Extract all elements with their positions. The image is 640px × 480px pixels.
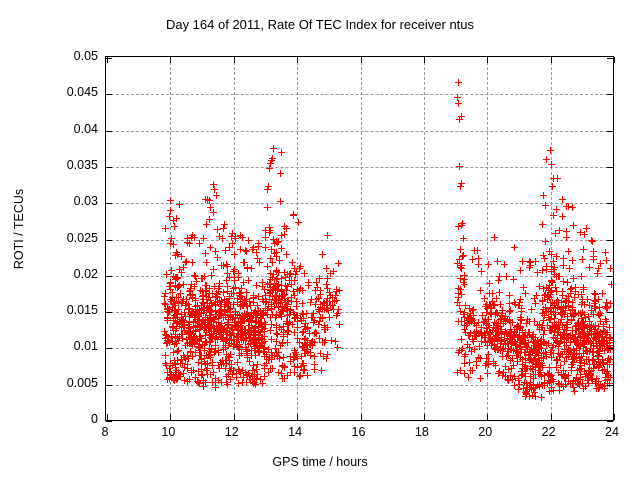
data-point-marker — [580, 284, 587, 291]
data-point-marker — [490, 360, 497, 367]
data-point-marker — [245, 237, 252, 244]
data-point-marker — [280, 331, 287, 338]
data-point-marker — [573, 351, 580, 358]
data-point-marker — [336, 321, 343, 328]
data-point-marker — [572, 288, 579, 295]
data-point-marker — [557, 319, 564, 326]
data-point-marker — [253, 282, 260, 289]
y-axis-tick-labels: 00.0050.010.0150.020.0250.030.0350.040.0… — [28, 56, 98, 419]
data-point-marker — [471, 332, 478, 339]
data-point-marker — [235, 274, 242, 281]
y-tick-mark — [106, 421, 112, 422]
data-point-marker — [202, 282, 209, 289]
data-point-marker — [566, 265, 573, 272]
data-point-marker — [202, 250, 209, 257]
data-point-marker — [522, 290, 529, 297]
y-tick-label: 0.02 — [32, 267, 98, 281]
scatter-series-roti — [106, 57, 613, 420]
data-point-marker — [496, 289, 503, 296]
data-point-marker — [457, 246, 464, 253]
x-tick-label: 22 — [542, 425, 556, 439]
data-point-marker — [215, 288, 222, 295]
data-point-marker — [511, 244, 518, 251]
y-tick-label: 0.04 — [32, 122, 98, 136]
data-point-marker — [180, 281, 187, 288]
data-point-marker — [604, 343, 611, 350]
data-point-marker — [570, 222, 577, 229]
data-point-marker — [324, 232, 331, 239]
y-tick-label: 0.005 — [32, 376, 98, 390]
data-point-marker — [214, 254, 221, 261]
data-point-marker — [270, 236, 277, 243]
data-point-marker — [271, 296, 278, 303]
data-point-marker — [264, 186, 271, 193]
data-point-marker — [460, 235, 467, 242]
data-point-marker — [237, 333, 244, 340]
data-point-marker — [258, 335, 265, 342]
data-point-marker — [327, 270, 334, 277]
data-point-marker — [580, 246, 587, 253]
data-point-marker — [184, 352, 191, 359]
data-point-marker — [173, 376, 180, 383]
data-point-marker — [181, 322, 188, 329]
data-point-marker — [203, 259, 210, 266]
data-point-marker — [208, 272, 215, 279]
data-point-marker — [213, 192, 220, 199]
data-point-marker — [578, 273, 585, 280]
x-tick-label: 14 — [288, 425, 302, 439]
data-point-marker — [324, 351, 331, 358]
data-point-marker — [304, 342, 311, 349]
data-point-marker — [222, 247, 229, 254]
data-point-marker — [265, 356, 272, 363]
data-point-marker — [516, 299, 523, 306]
data-point-marker — [231, 251, 238, 258]
data-point-marker — [332, 338, 339, 345]
data-point-marker — [569, 257, 576, 264]
data-point-marker — [491, 234, 498, 241]
data-point-marker — [182, 342, 189, 349]
data-point-marker — [251, 325, 258, 332]
y-tick-mark — [607, 421, 613, 422]
data-point-marker — [560, 255, 567, 262]
data-point-marker — [530, 371, 537, 378]
data-point-marker — [473, 358, 480, 365]
data-point-marker — [199, 371, 206, 378]
data-point-marker — [245, 277, 252, 284]
data-point-marker — [234, 299, 241, 306]
data-point-marker — [234, 324, 241, 331]
data-point-marker — [283, 251, 290, 258]
x-tick-label: 20 — [478, 425, 492, 439]
data-point-marker — [492, 333, 499, 340]
data-point-marker — [460, 279, 467, 286]
data-point-marker — [334, 344, 341, 351]
data-point-marker — [468, 348, 475, 355]
data-point-marker — [470, 306, 477, 313]
data-point-marker — [255, 345, 262, 352]
data-point-marker — [206, 216, 213, 223]
data-point-marker — [304, 372, 311, 379]
data-point-marker — [184, 239, 191, 246]
data-point-marker — [284, 339, 291, 346]
data-point-marker — [277, 170, 284, 177]
data-point-marker — [171, 357, 178, 364]
data-point-marker — [324, 324, 331, 331]
data-point-marker — [539, 221, 546, 228]
data-point-marker — [458, 222, 465, 229]
data-point-marker — [596, 333, 603, 340]
data-point-marker — [184, 378, 191, 385]
data-point-marker — [561, 326, 568, 333]
data-point-marker — [188, 369, 195, 376]
x-tick-label: 8 — [102, 425, 109, 439]
data-point-marker — [456, 256, 463, 263]
data-point-marker — [529, 392, 536, 399]
data-point-marker — [596, 312, 603, 319]
data-point-marker — [248, 317, 255, 324]
data-point-marker — [493, 309, 500, 316]
data-point-marker — [504, 340, 511, 347]
data-point-marker — [469, 256, 476, 263]
data-point-marker — [570, 275, 577, 282]
data-point-marker — [201, 341, 208, 348]
data-point-marker — [323, 281, 330, 288]
data-point-marker — [316, 275, 323, 282]
data-point-marker — [485, 351, 492, 358]
data-point-marker — [606, 361, 613, 368]
data-point-marker — [541, 327, 548, 334]
data-point-marker — [284, 372, 291, 379]
data-point-marker — [544, 380, 551, 387]
data-point-marker — [558, 335, 565, 342]
data-point-marker — [560, 305, 567, 312]
data-point-marker — [268, 321, 275, 328]
data-point-marker — [290, 211, 297, 218]
data-point-marker — [303, 310, 310, 317]
data-point-marker — [248, 265, 255, 272]
data-point-marker — [250, 310, 257, 317]
data-point-marker — [199, 275, 206, 282]
data-point-marker — [173, 249, 180, 256]
data-point-marker — [559, 292, 566, 299]
data-point-marker — [249, 246, 256, 253]
data-point-marker — [202, 323, 209, 330]
data-point-marker — [172, 333, 179, 340]
data-point-marker — [569, 204, 576, 211]
data-point-marker — [501, 261, 508, 268]
data-point-marker — [280, 354, 287, 361]
data-point-marker — [254, 371, 261, 378]
data-point-marker — [268, 157, 275, 164]
data-point-marker — [563, 234, 570, 241]
data-point-marker — [550, 258, 557, 265]
data-point-marker — [541, 372, 548, 379]
data-point-marker — [279, 362, 286, 369]
data-point-marker — [164, 334, 171, 341]
y-tick-label: 0.03 — [32, 194, 98, 208]
data-point-marker — [477, 287, 484, 294]
data-point-marker — [191, 234, 198, 241]
data-point-marker — [207, 204, 214, 211]
data-point-marker — [586, 264, 593, 271]
x-axis-title: GPS time / hours — [0, 455, 640, 469]
data-point-marker — [503, 273, 510, 280]
data-point-marker — [162, 225, 169, 232]
data-point-marker — [461, 326, 468, 333]
plot-area — [105, 56, 614, 421]
data-point-marker — [521, 341, 528, 348]
data-point-marker — [250, 292, 257, 299]
y-tick-label: 0.01 — [32, 339, 98, 353]
data-point-marker — [581, 231, 588, 238]
data-point-marker — [518, 305, 525, 312]
chart-figure: Day 164 of 2011, Rate Of TEC Index for r… — [0, 0, 640, 480]
data-point-marker — [317, 350, 324, 357]
data-point-marker — [239, 379, 246, 386]
data-point-marker — [540, 192, 547, 199]
data-point-marker — [319, 251, 326, 258]
data-point-marker — [201, 305, 208, 312]
data-point-marker — [268, 336, 275, 343]
data-point-marker — [173, 215, 180, 222]
x-axis-tick-labels: 81012141618202224 — [105, 425, 612, 443]
data-point-marker — [489, 290, 496, 297]
data-point-marker — [574, 339, 581, 346]
data-point-marker — [297, 372, 304, 379]
data-point-marker — [510, 276, 517, 283]
data-point-marker — [540, 350, 547, 357]
data-point-marker — [548, 347, 555, 354]
data-point-marker — [329, 294, 336, 301]
data-point-marker — [547, 147, 554, 154]
data-point-marker — [603, 318, 610, 325]
data-point-marker — [169, 289, 176, 296]
data-point-marker — [282, 299, 289, 306]
data-point-marker — [316, 318, 323, 325]
data-point-marker — [235, 366, 242, 373]
data-point-marker — [269, 365, 276, 372]
data-point-marker — [548, 161, 555, 168]
data-point-marker — [606, 324, 613, 331]
data-point-marker — [457, 183, 464, 190]
data-point-marker — [180, 370, 187, 377]
data-point-marker — [311, 366, 318, 373]
data-point-marker — [595, 296, 602, 303]
data-point-marker — [181, 309, 188, 316]
y-tick-label: 0.045 — [32, 85, 98, 99]
data-point-marker — [166, 213, 173, 220]
data-point-marker — [272, 345, 279, 352]
data-point-marker — [297, 263, 304, 270]
data-point-marker — [542, 238, 549, 245]
data-point-marker — [267, 255, 274, 262]
data-point-marker — [284, 271, 291, 278]
data-point-marker — [318, 367, 325, 374]
data-point-marker — [554, 175, 561, 182]
data-point-marker — [312, 287, 319, 294]
data-point-marker — [270, 145, 277, 152]
data-point-marker — [579, 329, 586, 336]
data-point-marker — [604, 304, 611, 311]
data-point-marker — [596, 340, 603, 347]
data-point-marker — [162, 352, 169, 359]
data-point-marker — [264, 263, 271, 270]
y-axis-title: ROTI / TECUs — [12, 164, 26, 294]
data-point-marker — [542, 202, 549, 209]
data-point-marker — [603, 370, 610, 377]
data-point-marker — [267, 270, 274, 277]
data-point-marker — [539, 267, 546, 274]
data-point-marker — [278, 149, 285, 156]
data-point-marker — [317, 301, 324, 308]
data-point-marker — [262, 299, 269, 306]
data-point-marker — [506, 292, 513, 299]
data-point-marker — [284, 312, 291, 319]
data-point-marker — [204, 196, 211, 203]
data-point-marker — [216, 365, 223, 372]
data-point-marker — [507, 328, 514, 335]
data-point-marker — [509, 376, 516, 383]
data-point-marker — [575, 319, 582, 326]
data-point-marker — [588, 237, 595, 244]
data-point-marker — [202, 361, 209, 368]
data-point-marker — [582, 383, 589, 390]
data-point-marker — [456, 163, 463, 170]
data-point-marker — [330, 306, 337, 313]
data-point-marker — [222, 328, 229, 335]
y-tick-label: 0.015 — [32, 303, 98, 317]
data-point-marker — [465, 374, 472, 381]
data-point-marker — [215, 347, 222, 354]
data-point-marker — [333, 312, 340, 319]
data-point-marker — [288, 281, 295, 288]
data-point-marker — [483, 320, 490, 327]
data-point-marker — [608, 281, 614, 288]
data-point-marker — [539, 364, 546, 371]
data-point-marker — [542, 291, 549, 298]
data-point-marker — [607, 265, 613, 272]
data-point-marker — [577, 310, 584, 317]
data-point-marker — [301, 270, 308, 277]
data-point-marker — [215, 377, 222, 384]
data-point-marker — [484, 370, 491, 377]
data-point-marker — [590, 248, 597, 255]
data-point-marker — [486, 280, 493, 287]
data-point-marker — [200, 235, 207, 242]
data-point-marker — [171, 223, 178, 230]
data-point-marker — [237, 232, 244, 239]
data-point-marker — [602, 249, 609, 256]
x-tick-label: 24 — [605, 425, 619, 439]
data-point-marker — [474, 247, 481, 254]
data-point-marker — [236, 292, 243, 299]
data-point-marker — [528, 306, 535, 313]
data-point-marker — [546, 388, 553, 395]
data-point-marker — [302, 320, 309, 327]
data-point-marker — [578, 301, 585, 308]
data-point-marker — [165, 309, 172, 316]
data-point-marker — [267, 227, 274, 234]
data-point-marker — [515, 323, 522, 330]
data-point-marker — [219, 235, 226, 242]
data-point-marker — [548, 268, 555, 275]
data-point-marker — [183, 258, 190, 265]
data-point-marker — [241, 298, 248, 305]
data-point-marker — [268, 246, 275, 253]
data-point-marker — [207, 297, 214, 304]
data-point-marker — [170, 241, 177, 248]
data-point-marker — [264, 204, 271, 211]
data-point-marker — [276, 257, 283, 264]
data-point-marker — [295, 219, 302, 226]
data-point-marker — [176, 201, 183, 208]
data-point-marker — [455, 100, 462, 107]
data-point-marker — [220, 225, 227, 232]
x-tick-label: 16 — [352, 425, 366, 439]
x-tick-label: 18 — [415, 425, 429, 439]
data-point-marker — [469, 367, 476, 374]
data-point-marker — [538, 394, 545, 401]
data-point-marker — [502, 363, 509, 370]
data-point-marker — [490, 301, 497, 308]
data-point-marker — [208, 346, 215, 353]
y-tick-label: 0.035 — [32, 158, 98, 172]
data-point-marker — [517, 267, 524, 274]
data-point-marker — [494, 258, 501, 265]
data-point-marker — [457, 264, 464, 271]
y-tick-label: 0.05 — [32, 49, 98, 63]
data-point-marker — [183, 296, 190, 303]
data-point-marker — [192, 297, 199, 304]
x-tick-mark — [614, 57, 615, 63]
data-point-marker — [167, 197, 174, 204]
data-point-marker — [559, 196, 566, 203]
data-point-marker — [316, 308, 323, 315]
chart-title: Day 164 of 2011, Rate Of TEC Index for r… — [0, 17, 640, 32]
data-point-marker — [335, 260, 342, 267]
data-point-marker — [603, 257, 610, 264]
data-point-marker — [277, 198, 284, 205]
data-point-marker — [526, 318, 533, 325]
data-point-marker — [281, 231, 288, 238]
data-point-marker — [211, 186, 218, 193]
data-point-marker — [167, 207, 174, 214]
data-point-marker — [200, 383, 207, 390]
data-point-marker — [549, 183, 556, 190]
data-point-marker — [273, 283, 280, 290]
data-point-marker — [559, 213, 566, 220]
data-point-marker — [590, 365, 597, 372]
data-point-marker — [186, 334, 193, 341]
data-point-marker — [286, 319, 293, 326]
data-point-marker — [507, 307, 514, 314]
data-point-marker — [509, 355, 516, 362]
data-point-marker — [527, 259, 534, 266]
data-point-marker — [556, 273, 563, 280]
x-tick-mark — [614, 414, 615, 420]
data-point-marker — [254, 255, 261, 262]
data-point-marker — [592, 380, 599, 387]
data-point-marker — [299, 300, 306, 307]
y-tick-label: 0 — [32, 412, 98, 426]
data-point-marker — [466, 359, 473, 366]
x-tick-label: 10 — [161, 425, 175, 439]
y-tick-label: 0.025 — [32, 231, 98, 245]
data-point-marker — [456, 116, 463, 123]
data-point-marker — [594, 270, 601, 277]
data-point-marker — [299, 287, 306, 294]
